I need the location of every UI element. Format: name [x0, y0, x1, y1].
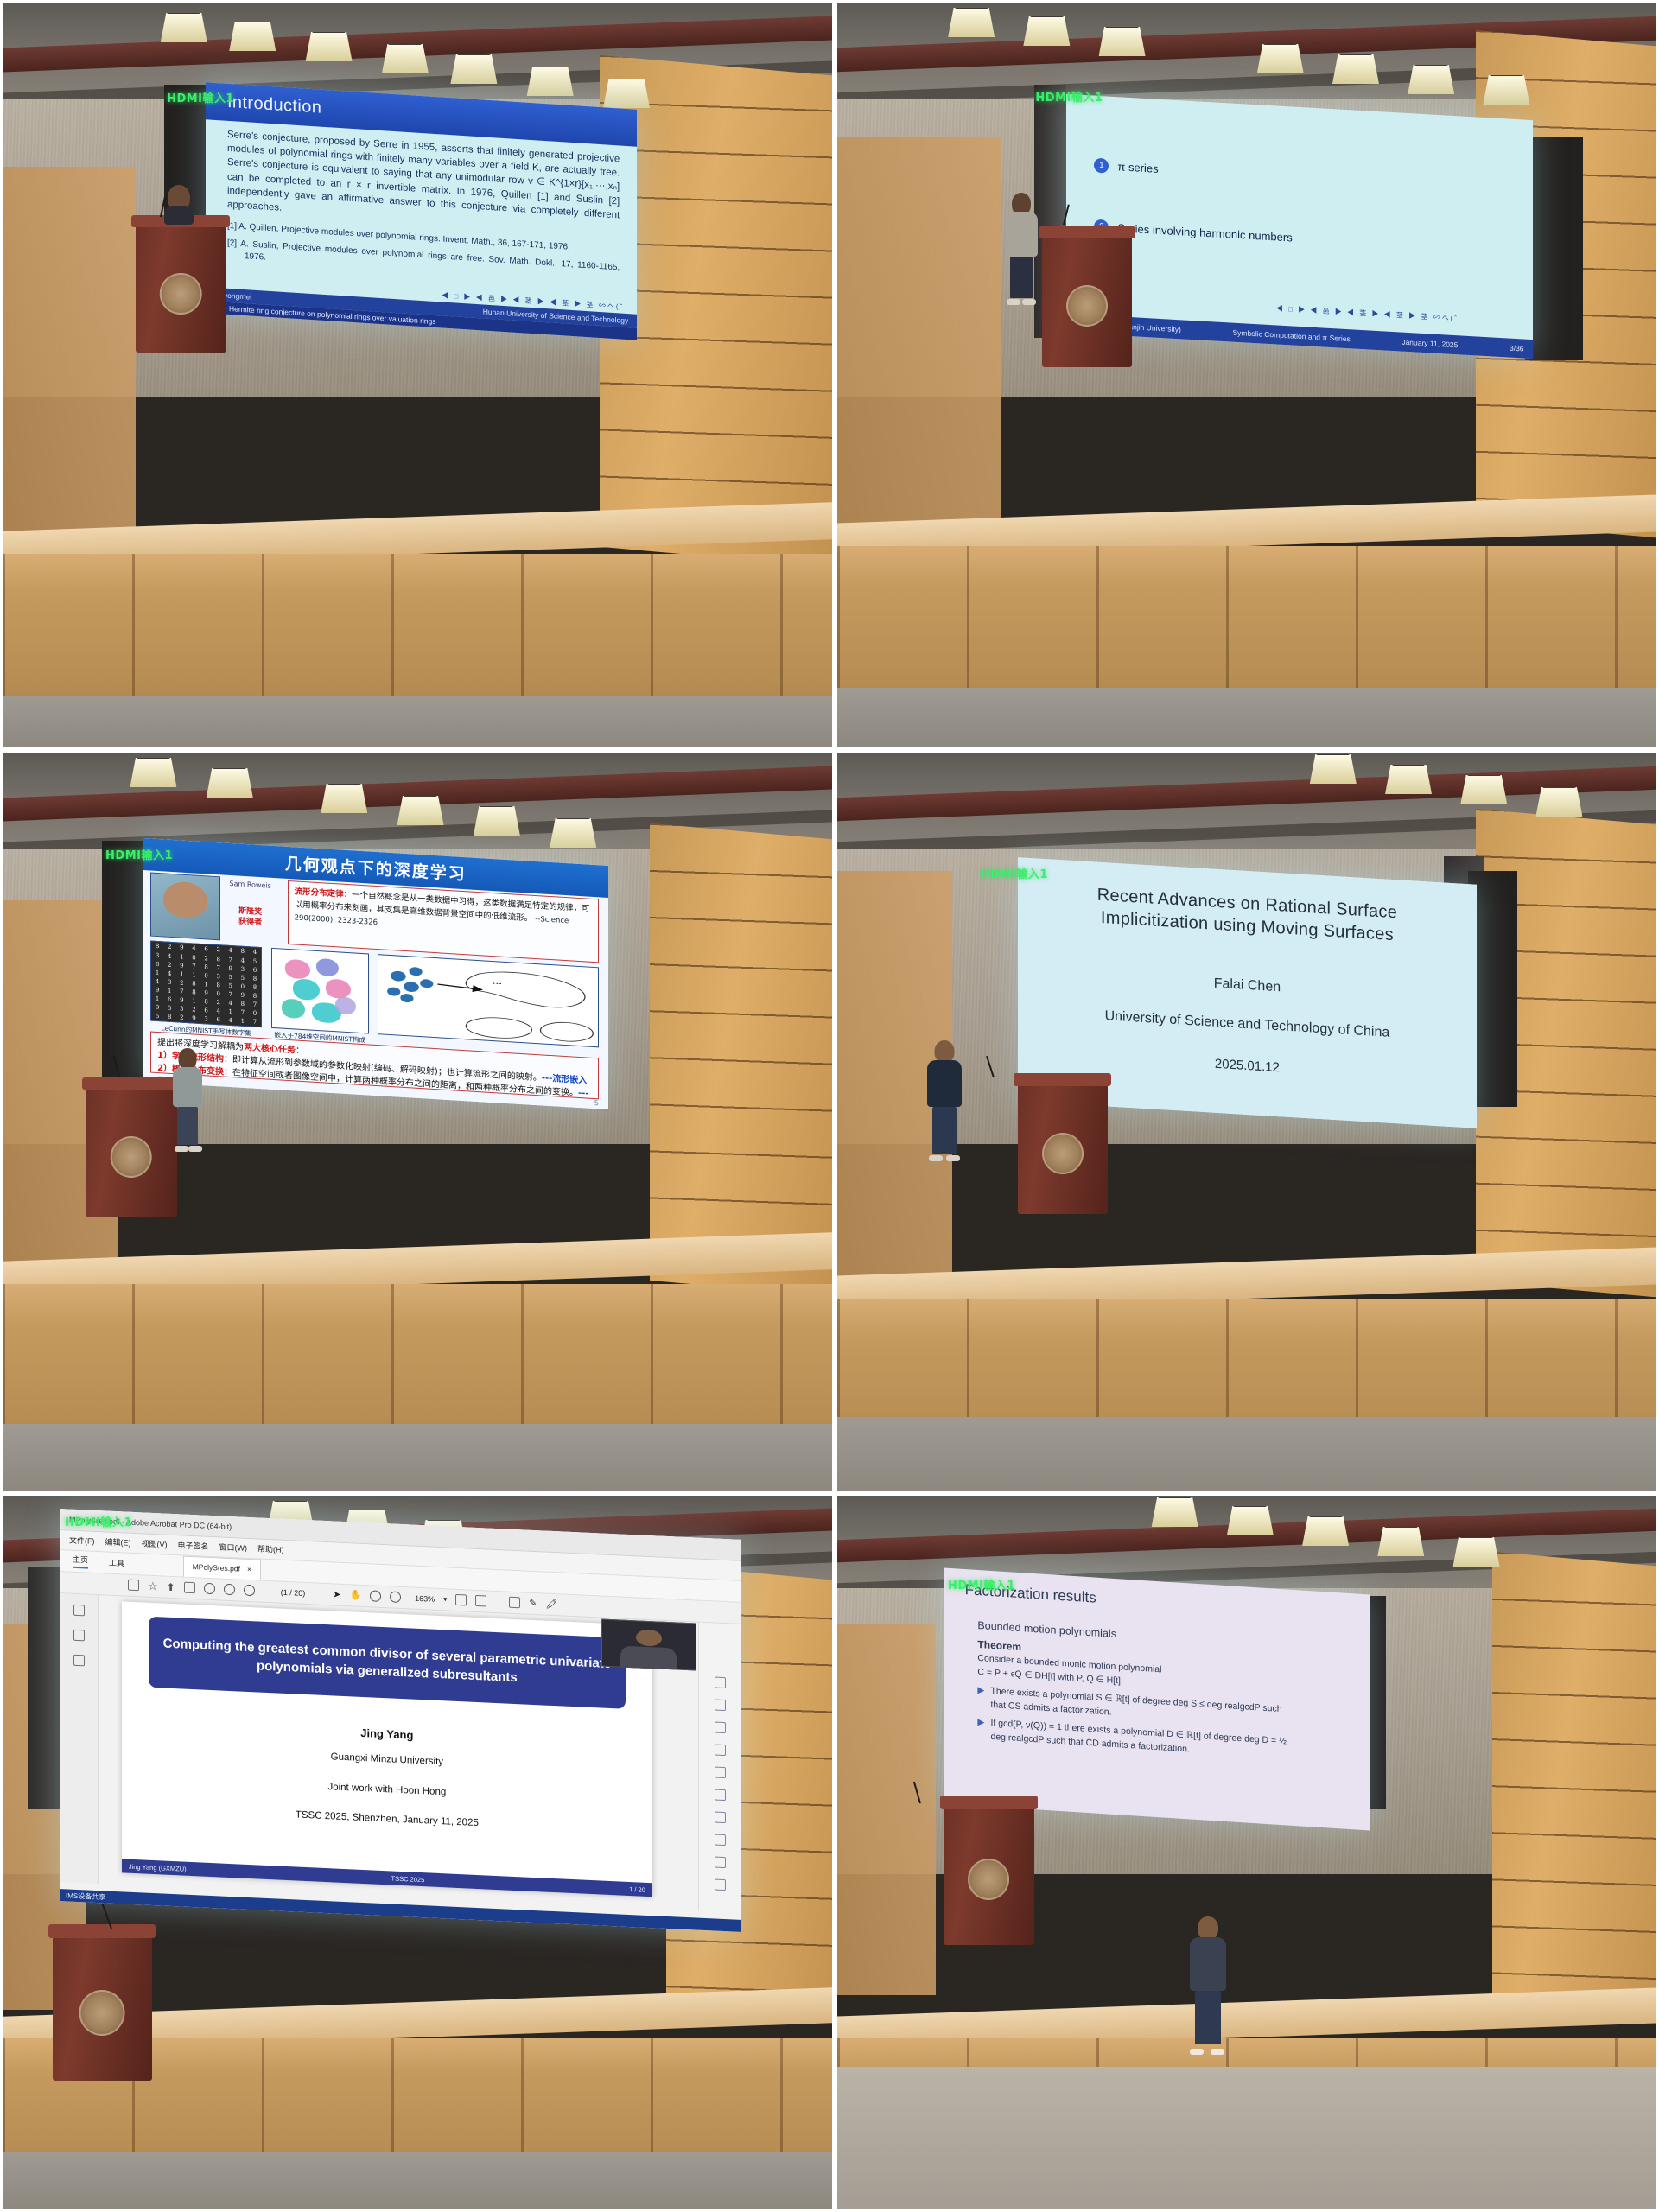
- menu-item-view[interactable]: 视图(V): [142, 1538, 168, 1550]
- photo-panel-3: 几何观点下的深度学习 Sam Roweis 斯隆奖 获得者 流形分布定律：一个自…: [0, 750, 835, 1493]
- slide-subtitle: Bounded motion polynomials: [978, 1619, 1117, 1640]
- slide-content: Introduction Serre's conjecture, propose…: [206, 82, 637, 340]
- acrobat-window: MPolySres.pdf - Adobe Acrobat Pro DC (64…: [60, 1509, 741, 1932]
- save-icon[interactable]: [128, 1580, 139, 1592]
- pdf-page: Computing the greatest common divisor of…: [122, 1602, 652, 1897]
- portrait-name: Sam Roweis: [223, 880, 279, 892]
- zoom-level[interactable]: 163%: [415, 1593, 435, 1603]
- hdmi-input-label: HDMI输入1: [1035, 88, 1103, 105]
- star-icon[interactable]: ☆: [148, 1579, 158, 1593]
- redact-icon[interactable]: [715, 1789, 726, 1801]
- photo-panel-2: 1 π series 2 Series involving harmonic n…: [835, 0, 1659, 750]
- create-pdf-icon[interactable]: [715, 1699, 726, 1711]
- export-pdf-icon[interactable]: [715, 1676, 726, 1688]
- right-tools-rail: [699, 1622, 741, 1912]
- projection-screen: Introduction Serre's conjecture, propose…: [206, 82, 637, 340]
- podium: [86, 1077, 177, 1217]
- pdf-slide-conference: TSSC 2025, Shenzhen, January 11, 2025: [122, 1802, 652, 1837]
- hdmi-input-label: HDMI输入1: [981, 865, 1048, 881]
- speaker: [927, 1040, 962, 1161]
- svg-text:•••: •••: [493, 982, 502, 987]
- menu-item-esign[interactable]: 电子签名: [178, 1540, 209, 1553]
- video-conference-thumbnail[interactable]: [601, 1619, 696, 1671]
- bullet-triangle-icon: ▶: [978, 1716, 985, 1744]
- menu-item-edit[interactable]: 编辑(E): [105, 1536, 131, 1548]
- fill-sign-icon[interactable]: [715, 1834, 726, 1846]
- fit-page-icon[interactable]: [455, 1594, 467, 1606]
- podium: [1042, 226, 1132, 368]
- upload-icon[interactable]: ⬆: [167, 1580, 175, 1592]
- photo-panel-4: Recent Advances on Rational Surface Impl…: [835, 750, 1659, 1493]
- taskbar-label[interactable]: IMS设备共享: [66, 1891, 105, 1902]
- pdf-slide-title: Computing the greatest common divisor of…: [149, 1617, 626, 1709]
- page-indicator: (1 / 20): [281, 1587, 306, 1597]
- pdf-footer-page: 1 / 20: [629, 1885, 645, 1894]
- tab-tools[interactable]: 工具: [109, 1557, 124, 1569]
- slide-affiliation: University of Science and Technology of …: [1018, 1003, 1477, 1046]
- portrait-photo: [150, 873, 220, 940]
- photo-grid: Introduction Serre's conjecture, propose…: [0, 0, 1659, 2212]
- next-page-icon[interactable]: [244, 1585, 255, 1597]
- slide-content: 几何观点下的深度学习 Sam Roweis 斯隆奖 获得者 流形分布定律：一个自…: [143, 838, 608, 1109]
- slide-footer-date: January 11, 2025: [1402, 337, 1459, 349]
- hdmi-input-label: HDMI输入1: [948, 1576, 1015, 1592]
- zoom-in-icon[interactable]: [390, 1592, 401, 1604]
- select-icon[interactable]: ➤: [333, 1589, 340, 1600]
- enumerate-label-1: π series: [1118, 160, 1159, 175]
- slide-page-number: 5: [594, 1100, 599, 1108]
- stage-lights: [903, 3, 1656, 122]
- hdmi-input-label: HDMI输入1: [167, 89, 234, 105]
- theorem-label: Theorem: [978, 1638, 1022, 1653]
- organize-pages-icon[interactable]: [715, 1766, 726, 1778]
- comment-icon[interactable]: [509, 1597, 520, 1609]
- mnist-digit-grid: 829462484 341028745 629787936 141103558 …: [150, 941, 262, 1028]
- slide-footer-page: 3/36: [1510, 343, 1524, 353]
- pdf-slide-joint-work: Joint work with Hoon Hong: [122, 1772, 652, 1807]
- core-tasks-heading-red: 两大核心任务: [244, 1043, 296, 1056]
- enumerate-label-2: Series involving harmonic numbers: [1118, 221, 1293, 244]
- enumerate-item-1: 1 π series: [1095, 157, 1159, 175]
- rotate-icon[interactable]: [475, 1595, 486, 1607]
- enumerate-number-1: 1: [1095, 157, 1109, 173]
- speaker: [173, 1048, 202, 1152]
- bookmark-icon[interactable]: [73, 1630, 85, 1642]
- zoom-out-icon[interactable]: [370, 1591, 381, 1603]
- print-icon[interactable]: [184, 1582, 195, 1594]
- document-tab[interactable]: MPolySres.pdf ×: [183, 1556, 261, 1580]
- slide-content: Factorization results Bounded motion pol…: [944, 1568, 1370, 1831]
- attachment-icon[interactable]: [73, 1655, 85, 1667]
- speaker: [164, 185, 194, 221]
- podium: [136, 215, 227, 353]
- podium: [53, 1924, 152, 2082]
- hdmi-input-label: HDMI输入1: [105, 846, 173, 862]
- tab-home[interactable]: 主页: [73, 1554, 88, 1569]
- more-tools-icon[interactable]: [715, 1878, 726, 1891]
- stage-lights: [903, 753, 1656, 871]
- hand-icon[interactable]: ✋: [350, 1590, 362, 1602]
- combine-files-icon[interactable]: [715, 1744, 726, 1756]
- page-thumbnails-icon[interactable]: [73, 1605, 85, 1617]
- slide-body-text: Serre's conjecture, proposed by Serre in…: [227, 127, 620, 237]
- speaker: [1190, 1916, 1226, 2055]
- projection-screen: 1 π series 2 Series involving harmonic n…: [1066, 94, 1533, 359]
- projection-screen: Factorization results Bounded motion pol…: [944, 1568, 1370, 1831]
- chevron-down-icon[interactable]: ▾: [443, 1595, 447, 1603]
- portrait-prize-label: 斯隆奖 获得者: [218, 906, 283, 931]
- photo-panel-5: MPolySres.pdf - Adobe Acrobat Pro DC (64…: [0, 1493, 835, 2212]
- podium: [1018, 1073, 1108, 1213]
- manifold-diagram: •••: [378, 955, 599, 1048]
- highlight-icon[interactable]: 🖍: [546, 1599, 558, 1611]
- menu-item-file[interactable]: 文件(F): [69, 1535, 95, 1547]
- protect-icon[interactable]: [715, 1811, 726, 1823]
- menu-item-window[interactable]: 窗口(W): [219, 1541, 248, 1554]
- photo-panel-6: Factorization results Bounded motion pol…: [835, 1493, 1659, 2212]
- close-icon[interactable]: ×: [247, 1565, 251, 1573]
- manifold-law-heading: 流形分布定律: [295, 887, 344, 899]
- projection-screen: MPolySres.pdf - Adobe Acrobat Pro DC (64…: [60, 1509, 741, 1932]
- bullet-triangle-icon: ▶: [978, 1684, 985, 1712]
- projection-screen: 几何观点下的深度学习 Sam Roweis 斯隆奖 获得者 流形分布定律：一个自…: [143, 838, 608, 1109]
- prev-page-icon[interactable]: [224, 1584, 235, 1596]
- manifold-diagram-svg: •••: [379, 956, 598, 1047]
- pdf-footer-conference: TSSC 2025: [391, 1874, 425, 1884]
- slide-title: Recent Advances on Rational Surface Impl…: [1054, 881, 1440, 949]
- speaker: [1005, 193, 1038, 305]
- tsne-embedding-plot: [271, 948, 369, 1034]
- photo-panel-1: Introduction Serre's conjecture, propose…: [0, 0, 835, 750]
- send-for-comments-icon[interactable]: [715, 1856, 726, 1868]
- document-tab-label: MPolySres.pdf: [193, 1563, 240, 1574]
- edit-pdf-icon[interactable]: [715, 1721, 726, 1733]
- search-icon[interactable]: [204, 1583, 215, 1595]
- pdf-slide-footer: Jing Yang (GXMZU) TSSC 2025 1 / 20: [122, 1859, 652, 1897]
- core-task-1-tag: ---流形嵌入: [542, 1073, 587, 1085]
- slide-content: 1 π series 2 Series involving harmonic n…: [1066, 94, 1533, 359]
- pen-icon[interactable]: ✎: [529, 1598, 537, 1609]
- slide-footer-talk: Symbolic Computation and π Series: [1233, 327, 1351, 343]
- menu-item-help[interactable]: 帮助(H): [257, 1543, 284, 1555]
- pdf-footer-author: Jing Yang (GXMZU): [129, 1862, 187, 1872]
- slide-author: Falai Chen: [1018, 964, 1477, 1007]
- hdmi-input-label: HDMI输入1: [65, 1513, 132, 1529]
- beamer-nav-dots: ◀ □ ▶ ◀ 邑 ▶ ◀ 茎 ▶ ◀ 茎 ▶ 茎 ∽へ(ˆ: [1276, 303, 1459, 323]
- podium: [944, 1796, 1033, 1945]
- left-navigation-rail: [60, 1593, 99, 1884]
